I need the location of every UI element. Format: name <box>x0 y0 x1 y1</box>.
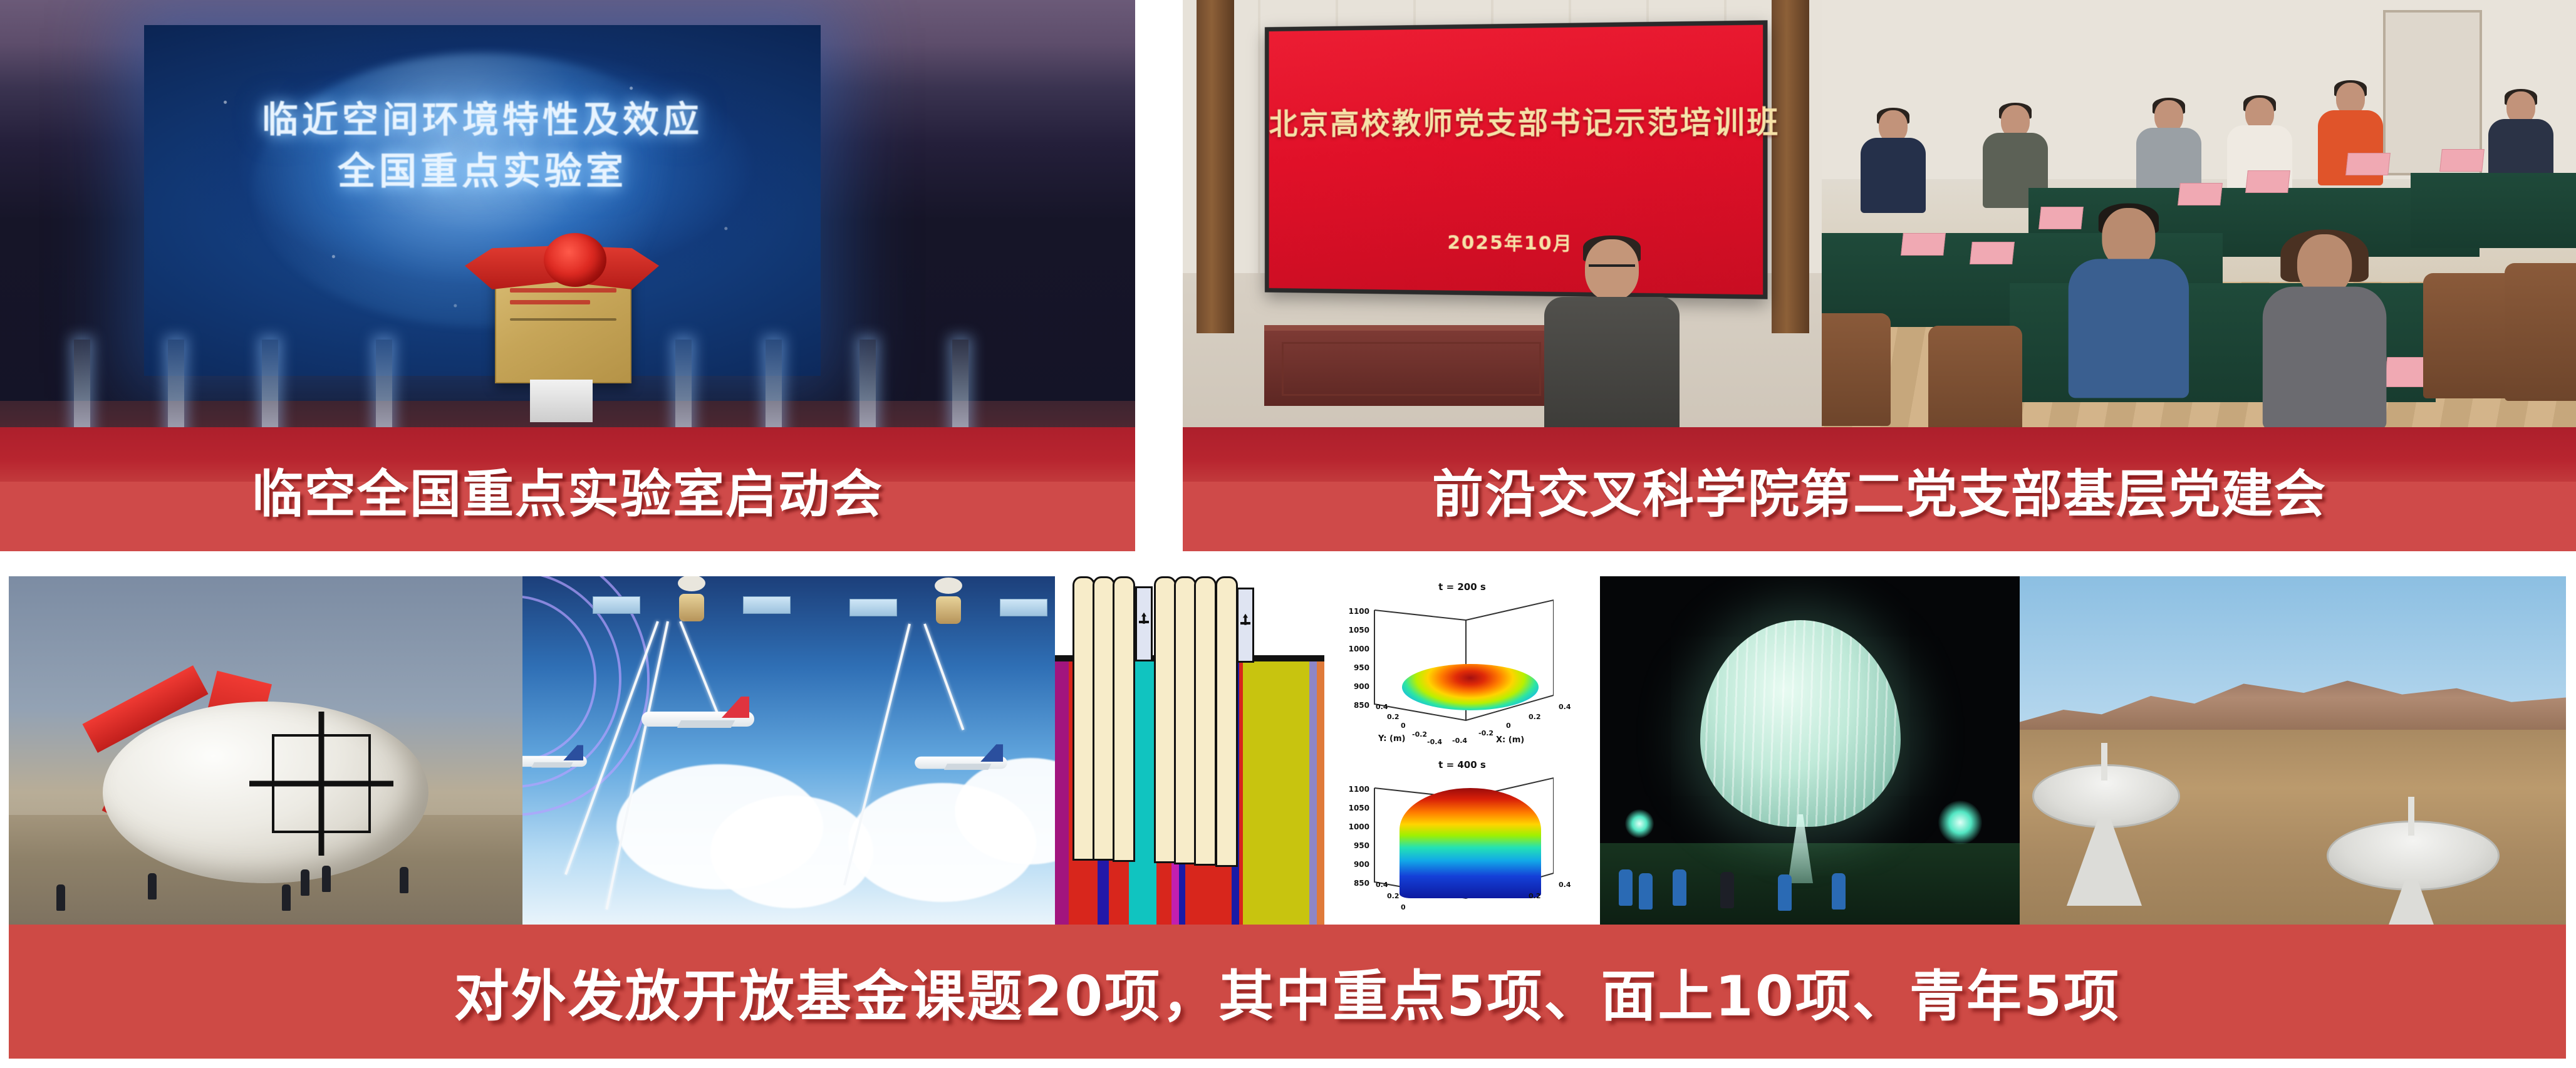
z-tick: 1000 <box>1349 822 1372 831</box>
airship-envelope <box>103 702 428 883</box>
downlink-beam <box>679 621 719 715</box>
3d-bar-surface <box>1400 788 1541 898</box>
photo-collage: 临近空间环境特性及效应 全国重点实验室 <box>0 0 2576 1068</box>
z-tick: 1100 <box>1349 785 1372 794</box>
launch-crew <box>1720 872 1734 908</box>
x-tick: 0 <box>1506 722 1511 730</box>
x-tick: -0.4 <box>1452 737 1467 745</box>
z-tick: 900 <box>1354 860 1372 869</box>
caption-text: 前沿交叉科学院第二党支部基层党建会 <box>1432 452 2327 527</box>
fiber-tube <box>1154 576 1176 863</box>
meeting-chair <box>1928 326 2022 427</box>
wooden-podium <box>1264 325 1559 406</box>
ground-crew <box>400 867 408 893</box>
fiber-tube <box>1215 576 1238 867</box>
strip-layer-diagram <box>1055 576 1324 925</box>
ground-crew <box>56 884 65 911</box>
plot-axes-frame: 1100 1050 1000 950 900 850 <box>1372 774 1554 879</box>
launch-crew <box>1619 869 1633 906</box>
plot-title: t = 200 s <box>1324 581 1600 593</box>
radio-telescope-dish <box>2327 821 2496 925</box>
x-axis-label: X: (m) <box>1496 735 1524 745</box>
caption-text: 对外发放开放基金课题20项，其中重点5项、面上10项、青年5项 <box>454 952 2121 1032</box>
satellite <box>886 588 1011 631</box>
fiber-tube <box>1072 576 1095 861</box>
torso <box>1544 297 1680 427</box>
name-tent-card <box>1901 233 1946 256</box>
ground-crew <box>322 866 331 892</box>
substrate-layer <box>1243 661 1309 925</box>
led-wall-text: 临近空间环境特性及效应 全国重点实验室 <box>144 94 821 199</box>
high-altitude-balloon <box>1700 620 1901 827</box>
plot-title: t = 400 s <box>1324 759 1600 770</box>
launch-crew <box>1778 874 1792 911</box>
meeting-chair <box>2505 263 2576 401</box>
ground-crew <box>148 873 157 900</box>
y-tick: 0.4 <box>1376 703 1388 711</box>
panel-lab-launch: 临近空间环境特性及效应 全国重点实验室 <box>0 0 1135 551</box>
z-tick: 1050 <box>1349 626 1372 635</box>
x-tick: 0.2 <box>1529 713 1541 721</box>
launch-crew <box>1639 873 1653 910</box>
x-tick: -0.2 <box>1478 729 1493 737</box>
strip-radio-telescopes <box>2020 576 2566 925</box>
strip-balloon-launch <box>1600 576 2020 925</box>
training-class-photo: 北京高校教师党支部书记示范培训班 2025年10月 <box>1183 0 1822 427</box>
aircraft <box>522 749 587 772</box>
3d-bar-surface <box>1402 664 1539 710</box>
caption-text: 临空全国重点实验室启动会 <box>252 452 883 527</box>
panel-open-fund: t = 200 s 1100 1050 1000 950 900 850 Y: … <box>9 576 2566 1059</box>
z-tick: 950 <box>1354 841 1372 850</box>
screen-title: 北京高校教师党支部书记示范培训班 <box>1269 96 1763 142</box>
strip-satellite-link <box>522 576 1055 925</box>
plot-t200: t = 200 s 1100 1050 1000 950 900 850 Y: … <box>1324 578 1600 752</box>
wood-column <box>1197 0 1234 333</box>
ribbon-flower-icon <box>544 233 606 287</box>
fiber-tube <box>1194 576 1217 866</box>
y-tick: -0.2 <box>1412 730 1427 739</box>
x-tick: 0.4 <box>1559 703 1571 711</box>
plot-t400: t = 400 s 1100 1050 1000 950 900 850 0.4… <box>1324 750 1600 925</box>
name-tent-card <box>2345 153 2391 175</box>
downlink-beam <box>923 623 964 730</box>
y-tick: 0 <box>1401 722 1406 730</box>
led-line-2: 全国重点实验室 <box>144 145 821 199</box>
z-tick: 850 <box>1354 701 1372 710</box>
glasses-icon <box>1589 264 1635 278</box>
sensor-chip-icon <box>1237 588 1254 663</box>
strip-aerostat-airship <box>9 576 522 925</box>
z-tick: 900 <box>1354 682 1372 691</box>
strip-3d-bar-plots: t = 200 s 1100 1050 1000 950 900 850 Y: … <box>1324 576 1600 925</box>
meeting-chair <box>2423 273 2517 398</box>
y-tick: 0.2 <box>1387 713 1400 721</box>
radio-telescope-dish <box>2032 764 2176 921</box>
panel-party-meeting: 北京高校教师党支部书记示范培训班 2025年10月 <box>1183 0 2576 551</box>
sensor-chip-icon <box>1135 586 1153 661</box>
flood-light <box>1938 801 1982 844</box>
ground-crew <box>301 869 309 896</box>
ground-crew <box>282 884 291 911</box>
name-tent-card <box>2245 170 2290 193</box>
satellite <box>629 585 754 629</box>
z-tick: 1000 <box>1349 645 1372 653</box>
aircraft <box>915 749 1007 775</box>
name-tent-card <box>2038 207 2084 229</box>
branch-meeting-photo <box>1822 0 2576 427</box>
z-tick: 950 <box>1354 663 1372 672</box>
crosshair-overlay-icon <box>272 734 371 833</box>
launch-crew <box>1673 869 1686 906</box>
plot-axes-frame: 1100 1050 1000 950 900 850 <box>1372 596 1554 702</box>
flood-light <box>1625 809 1654 838</box>
name-tent-card <box>2439 149 2485 172</box>
caption-bar-open-fund: 对外发放开放基金课题20项，其中重点5项、面上10项、青年5项 <box>9 925 2566 1059</box>
led-screen-red: 北京高校教师党支部书记示范培训班 2025年10月 <box>1265 20 1768 299</box>
launch-field <box>1600 843 2020 925</box>
x-tick: 0.2 <box>1529 892 1541 900</box>
fiber-tube <box>1113 576 1135 862</box>
caption-bar-party-meeting: 前沿交叉科学院第二党支部基层党建会 <box>1183 427 2576 551</box>
substrate-layer <box>1317 661 1324 925</box>
caption-bar-lab-launch: 临空全国重点实验室启动会 <box>0 427 1135 551</box>
y-tick: 0.4 <box>1376 881 1388 889</box>
z-tick: 1050 <box>1349 804 1372 812</box>
launch-crew <box>1832 873 1846 910</box>
name-tent-card <box>2178 183 2223 205</box>
z-tick: 850 <box>1354 879 1372 888</box>
y-axis-label: Y: (m) <box>1378 734 1405 744</box>
name-tent-card <box>1970 242 2015 264</box>
fiber-tube <box>1093 576 1115 861</box>
y-tick: 0.2 <box>1387 892 1400 900</box>
y-tick: -0.4 <box>1427 738 1442 746</box>
z-tick: 1100 <box>1349 607 1372 616</box>
fiber-tube <box>1174 576 1197 864</box>
x-tick: 0.4 <box>1559 881 1571 889</box>
aircraft <box>641 702 754 734</box>
meeting-chair <box>1822 313 1891 426</box>
meeting-table <box>2411 173 2576 248</box>
speaker-person <box>1534 239 1690 427</box>
substrate-layer <box>1055 661 1069 925</box>
wood-column <box>1772 0 1809 333</box>
led-line-1: 临近空间环境特性及效应 <box>144 94 821 145</box>
y-tick: 0 <box>1401 903 1406 911</box>
